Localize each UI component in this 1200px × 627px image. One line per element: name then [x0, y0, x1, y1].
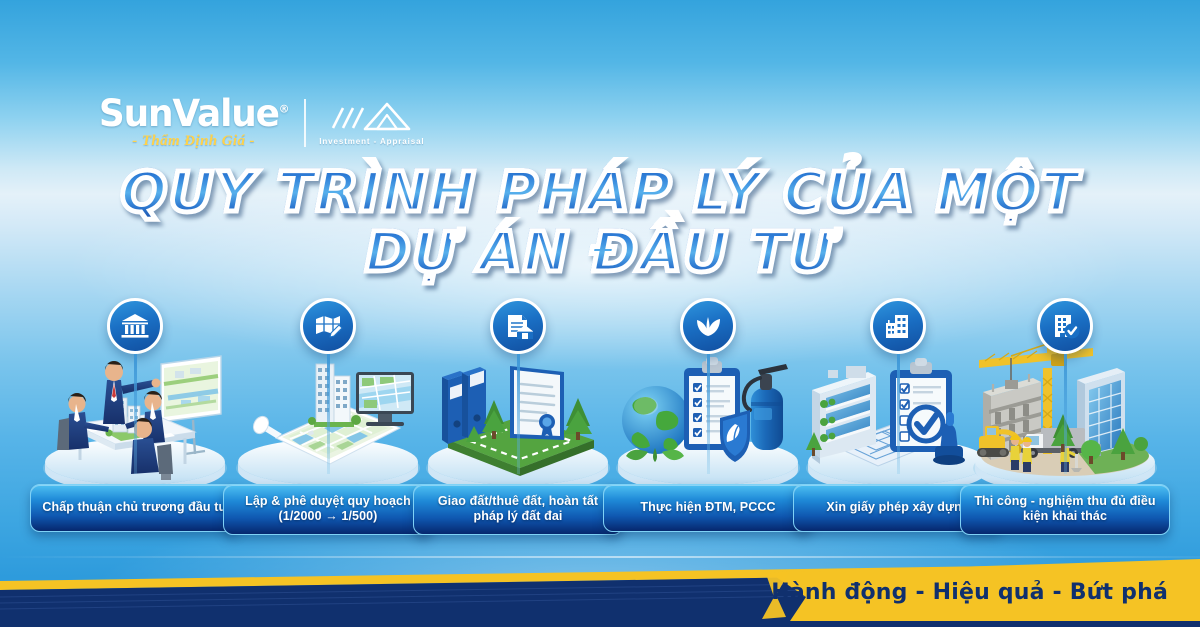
process-step-6[interactable]: Thi công - nghiệm thu đủ điều kiện khai …: [965, 298, 1165, 474]
page-title: QUY TRÌNH PHÁP LÝ CỦA MỘT DỰ ÁN ĐẦU TƯ: [0, 164, 1200, 281]
brand-logo-primary: SunValue® - Thẩm Định Giá -: [96, 95, 291, 150]
step-2-label-pill[interactable]: Lập & phê duyệt quy hoạch (1/2000 → 1/50…: [223, 484, 433, 535]
bank-building-icon: [107, 298, 163, 354]
process-steps: Chấp thuận chủ trương đầu tư: [0, 298, 1200, 538]
office-tower-icon: [870, 298, 926, 354]
brand-name-text: SunValue: [99, 92, 279, 135]
brand-logo-partner: Investment - Appraisal: [319, 100, 424, 146]
step-6-pin: [1035, 298, 1095, 474]
step-2-pin-stem: [327, 354, 330, 474]
page-title-line-1: QUY TRÌNH PHÁP LÝ CỦA MỘT: [0, 164, 1200, 221]
step-1-label-pill[interactable]: Chấp thuận chủ trương đầu tư: [30, 484, 240, 532]
step-5-pin: [868, 298, 928, 474]
brand-tagline: - Thẩm Định Giá -: [132, 133, 255, 150]
step-3-label: Giao đất/thuê đất, hoàn tất pháp lý đất …: [422, 494, 614, 525]
step-6-label-pill[interactable]: Thi công - nghiệm thu đủ điều kiện khai …: [960, 484, 1170, 535]
step-4-pin: [678, 298, 738, 474]
ma-monogram-icon: [329, 100, 415, 134]
step-6-pin-stem: [1064, 354, 1067, 474]
partner-subtitle: Investment - Appraisal: [319, 137, 424, 146]
step-5-pin-stem: [897, 354, 900, 474]
process-step-4[interactable]: Thực hiện ĐTM, PCCC: [608, 298, 808, 474]
process-step-1[interactable]: Chấp thuận chủ trương đầu tư: [35, 298, 235, 474]
step-4-pin-stem: [707, 354, 710, 474]
footer-banner: Hành động - Hiệu quả - Bứt phá: [0, 557, 1200, 627]
step-2-label: Lập & phê duyệt quy hoạch (1/2000 → 1/50…: [232, 494, 424, 525]
page-title-line-2: DỰ ÁN ĐẦU TƯ: [0, 224, 1200, 281]
step-2-pin: [298, 298, 358, 474]
step-3-pin: [488, 298, 548, 474]
step-1-label: Chấp thuận chủ trương đầu tư: [42, 500, 227, 515]
logo-divider: [304, 99, 306, 147]
infographic-canvas: SunValue® - Thẩm Định Giá - Investment -…: [0, 0, 1200, 627]
map-pencil-icon: [300, 298, 356, 354]
process-step-3[interactable]: Giao đất/thuê đất, hoàn tất pháp lý đất …: [418, 298, 618, 474]
footer-tagline: Hành động - Hiệu quả - Bứt phá: [771, 580, 1168, 605]
step-4-label: Thực hiện ĐTM, PCCC: [640, 500, 775, 515]
step-3-pin-stem: [517, 354, 520, 474]
process-step-2[interactable]: Lập & phê duyệt quy hoạch (1/2000 → 1/50…: [228, 298, 428, 474]
blueprint-check-icon: [1037, 298, 1093, 354]
leaf-icon: [680, 298, 736, 354]
brand-trademark: ®: [279, 103, 289, 116]
brand-logo: SunValue® - Thẩm Định Giá - Investment -…: [96, 95, 425, 150]
brand-name: SunValue®: [99, 95, 288, 132]
step-4-label-pill[interactable]: Thực hiện ĐTM, PCCC: [603, 484, 813, 532]
document-house-icon: [490, 298, 546, 354]
step-6-label: Thi công - nghiệm thu đủ điều kiện khai …: [969, 494, 1161, 525]
step-3-label-pill[interactable]: Giao đất/thuê đất, hoàn tất pháp lý đất …: [413, 484, 623, 535]
step-5-label: Xin giấy phép xây dựng: [826, 500, 969, 515]
step-1-pin-stem: [134, 354, 137, 474]
step-1-pin: [105, 298, 165, 474]
